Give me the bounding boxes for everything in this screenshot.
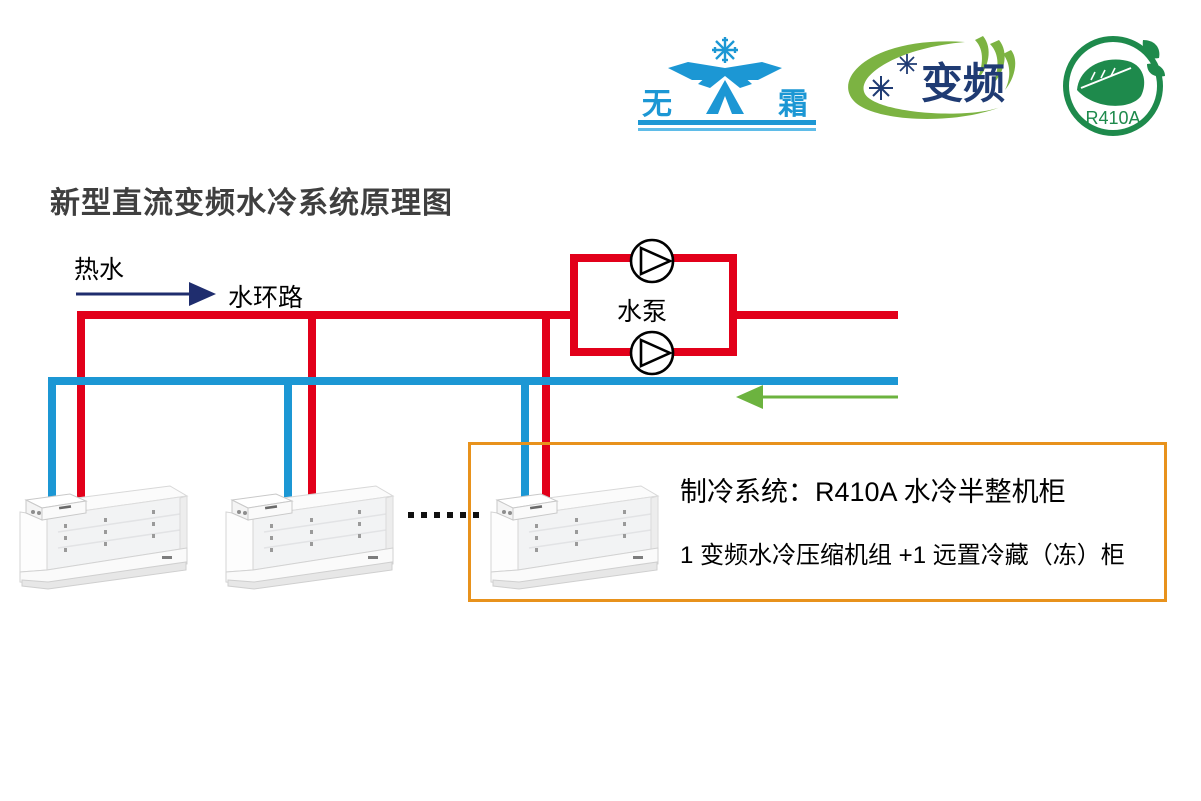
display-cabinet-icon <box>218 472 398 590</box>
ellipsis-dot <box>447 512 453 518</box>
display-cabinet-icon <box>12 472 192 590</box>
piping-schematic <box>0 0 1201 801</box>
ellipsis-dot <box>408 512 414 518</box>
callout-line-2: 1 变频水冷压缩机组 +1 远置冷藏（冻）柜 <box>680 535 1125 570</box>
callout-line-1: 制冷系统：R410A 水冷半整机柜 <box>680 470 1066 509</box>
diagram-canvas: 无 霜 <box>0 0 1201 801</box>
display-cabinet-3 <box>483 472 663 590</box>
display-cabinet-2 <box>218 472 398 590</box>
ellipsis-dot <box>434 512 440 518</box>
pump-bottom-icon <box>631 332 673 374</box>
ellipsis-dot <box>421 512 427 518</box>
display-cabinet-icon <box>483 472 663 590</box>
display-cabinet-1 <box>12 472 192 590</box>
ellipsis-dot <box>460 512 466 518</box>
pump-label: 水泵 <box>617 292 667 328</box>
hot-water-label: 热水 <box>74 250 124 286</box>
pump-top-icon <box>631 240 673 282</box>
water-loop-label: 水环路 <box>228 278 303 314</box>
